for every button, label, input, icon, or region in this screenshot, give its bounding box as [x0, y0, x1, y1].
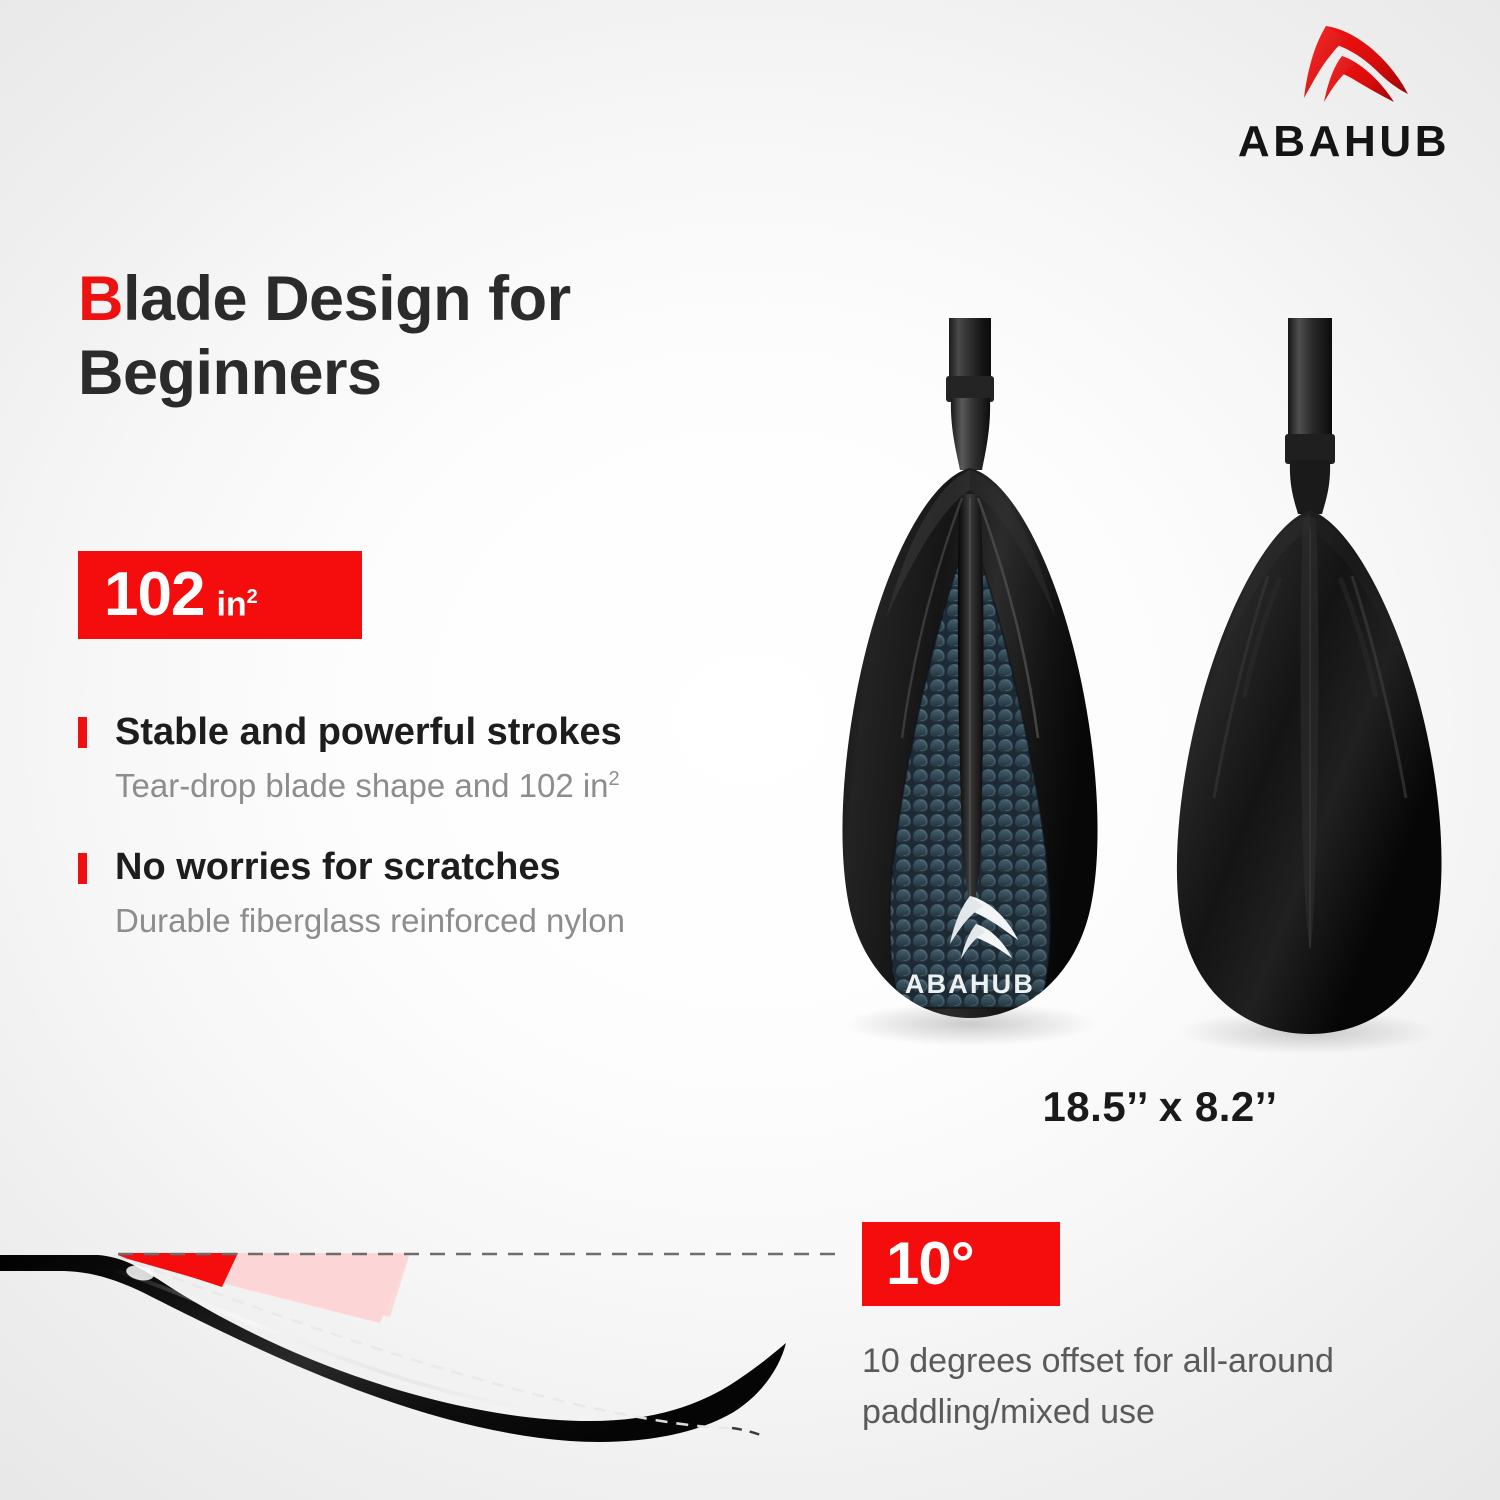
headline-line2: Beginners [78, 338, 382, 408]
feature-item: No worries for scratches Durable fibergl… [78, 847, 798, 940]
headline-line1-rest: lade Design for [123, 264, 571, 334]
brand-logo: ABAHUB [1216, 22, 1472, 164]
paddle-blade-front-view: ABAHUB [810, 318, 1130, 1063]
paddle-blade-images: ABAHUB [800, 318, 1480, 1078]
feature-heading-row: No worries for scratches [78, 847, 798, 889]
feature-subtitle: Tear-drop blade shape and 102 in2 [115, 766, 798, 806]
offset-caption-line2: paddling/mixed use [862, 1387, 1472, 1438]
paddle-blade-back-view [1148, 318, 1468, 1063]
abahub-wave-mark-icon [1268, 22, 1420, 114]
blade-side-profile-offset-diagram [0, 1225, 850, 1445]
offset-angle-badge: 10° [862, 1222, 1060, 1306]
blade-area-badge: 102 in2 [78, 551, 362, 639]
offset-angle-value: 10° [886, 1222, 974, 1306]
feature-subtitle: Durable fiberglass reinforced nylon [115, 901, 798, 941]
blade-dimensions-label: 18.5’’ x 8.2’’ [930, 1083, 1390, 1131]
feature-title: No worries for scratches [115, 847, 561, 889]
bullet-marker-icon [78, 853, 87, 884]
offset-angle-caption: 10 degrees offset for all-around paddlin… [862, 1336, 1472, 1438]
feature-heading-row: Stable and powerful strokes [78, 712, 798, 754]
blade-area-value: 102 [104, 551, 204, 639]
feature-item: Stable and powerful strokes Tear-drop bl… [78, 712, 798, 805]
blade-logo-text: ABAHUB [905, 969, 1035, 999]
page-title: Blade Design for Beginners [78, 262, 778, 411]
infographic-canvas: ABAHUB Blade Design for Beginners 102 in… [0, 0, 1500, 1500]
blade-area-unit: in2 [216, 553, 257, 648]
brand-name: ABAHUB [1216, 120, 1472, 164]
feature-title: Stable and powerful strokes [115, 712, 622, 754]
bullet-marker-icon [78, 717, 87, 748]
headline-accent-letter: B [78, 264, 123, 334]
feature-list: Stable and powerful strokes Tear-drop bl… [78, 712, 798, 983]
offset-caption-line1: 10 degrees offset for all-around [862, 1336, 1472, 1387]
